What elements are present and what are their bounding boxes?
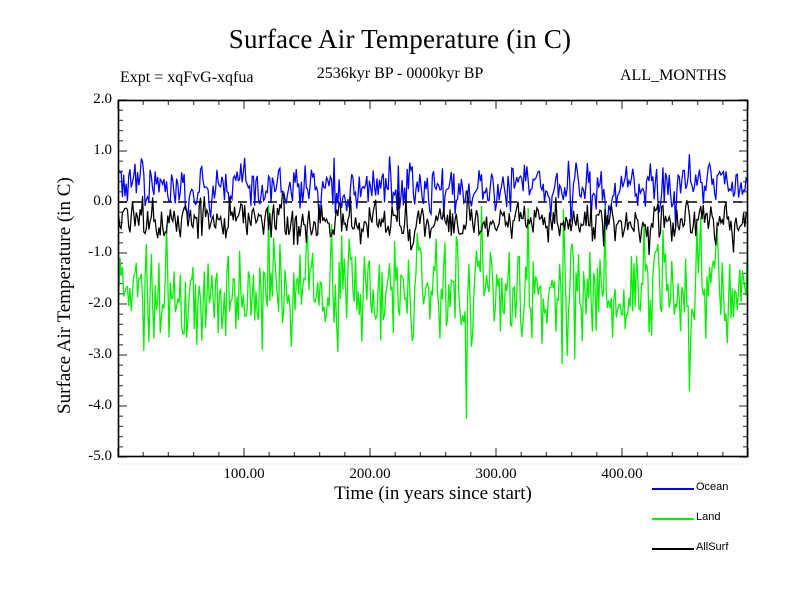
x-tick-label: 200.00 <box>325 467 415 482</box>
legend-label: Land <box>696 511 720 523</box>
legend-swatch-allsurf <box>652 548 694 550</box>
legend-label: AllSurf <box>696 541 728 553</box>
legend-swatch-ocean <box>652 488 694 490</box>
figure-canvas: Surface Air Temperature (in C) 2536kyr B… <box>0 0 800 600</box>
x-tick-label: 300.00 <box>451 467 541 482</box>
chart-legend: OceanLandAllSurf <box>652 480 800 560</box>
x-tick-label: 100.00 <box>199 467 289 482</box>
legend-swatch-land <box>652 518 694 520</box>
legend-label: Ocean <box>696 481 728 493</box>
